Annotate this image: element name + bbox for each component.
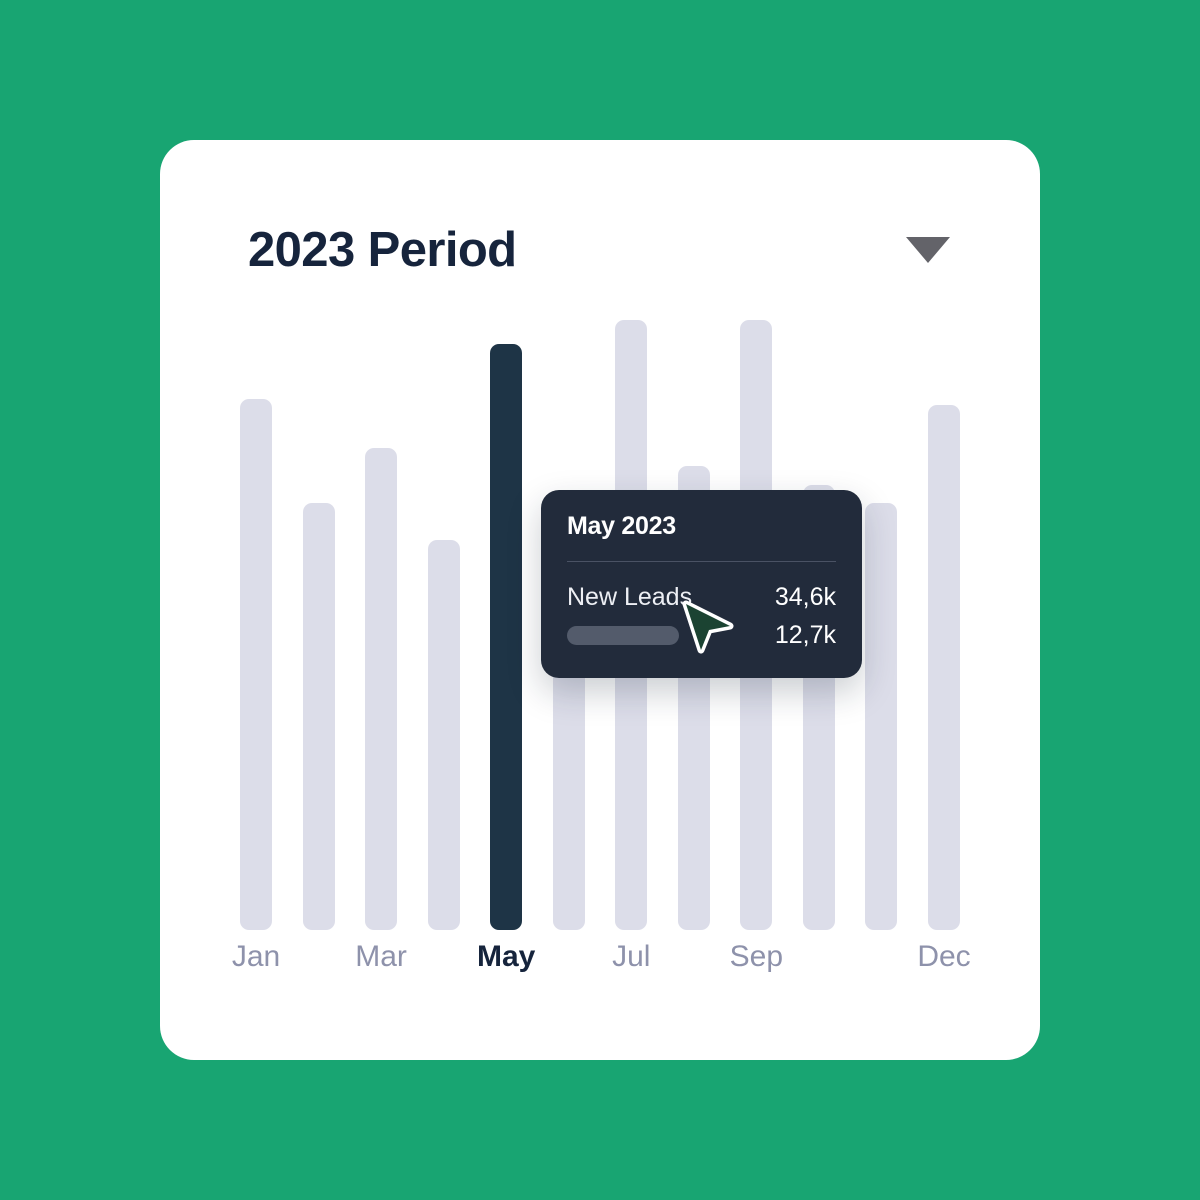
- bar-jun[interactable]: [553, 643, 585, 930]
- tooltip-skeleton-placeholder: [567, 626, 679, 645]
- bar-apr[interactable]: [428, 540, 460, 930]
- tooltip-series-label: New Leads: [567, 583, 692, 612]
- bar-feb[interactable]: [303, 503, 335, 930]
- axis-label-may: May: [477, 940, 535, 974]
- tooltip-row-secondary: 12,7k: [567, 616, 836, 654]
- tooltip-row-primary: New Leads 34,6k: [567, 578, 836, 616]
- axis-label-jul: Jul: [612, 940, 650, 974]
- app-background: 2023 Period JanMarMayJulSepDec May 2023 …: [0, 0, 1200, 1200]
- axis-label-sep: Sep: [730, 940, 783, 974]
- tooltip-series-value: 34,6k: [775, 583, 836, 612]
- axis-label-dec: Dec: [917, 940, 970, 974]
- bar-mar[interactable]: [365, 448, 397, 930]
- chart-x-axis: JanMarMayJulSepDec: [240, 940, 960, 1000]
- tooltip-divider: [567, 561, 836, 562]
- axis-label-mar: Mar: [355, 940, 407, 974]
- bar-may[interactable]: [490, 344, 522, 930]
- bar-dec[interactable]: [928, 405, 960, 930]
- bar-jan[interactable]: [240, 399, 272, 930]
- tooltip-title: May 2023: [567, 512, 836, 541]
- chart-card: 2023 Period JanMarMayJulSepDec May 2023 …: [160, 140, 1040, 1060]
- tooltip-secondary-value: 12,7k: [775, 621, 836, 650]
- axis-label-jan: Jan: [232, 940, 280, 974]
- chart-tooltip: May 2023 New Leads 34,6k 12,7k: [541, 490, 862, 678]
- bar-nov[interactable]: [865, 503, 897, 930]
